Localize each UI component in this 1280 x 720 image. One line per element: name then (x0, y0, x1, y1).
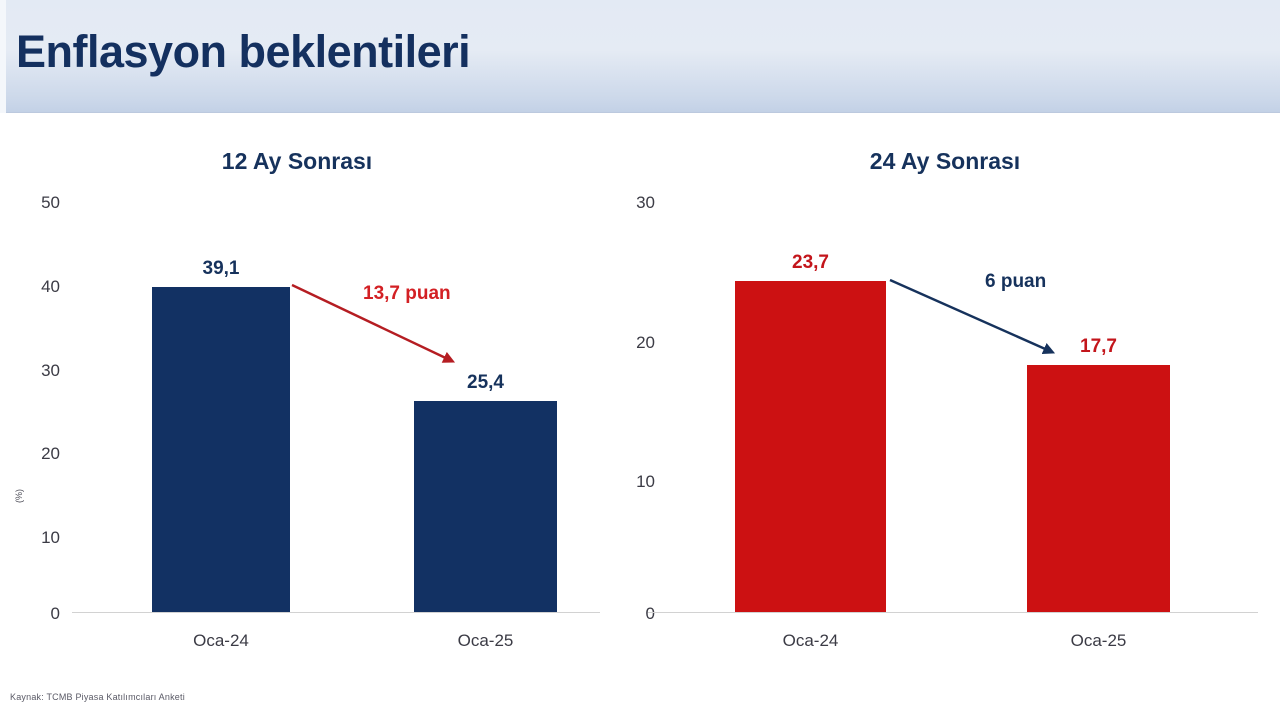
annotation-arrow-right (610, 113, 1280, 683)
annotation-label-right: 6 puan (985, 271, 1046, 293)
y-tick-right-10: 10 (615, 472, 655, 492)
value-label-left-oca-24: 39,1 (152, 258, 290, 280)
x-label-right-oca-24: Oca-24 (735, 631, 886, 651)
y-tick-right-20: 20 (615, 333, 655, 353)
bar-left-oca-24[interactable] (152, 287, 290, 612)
x-label-left-oca-24: Oca-24 (152, 631, 290, 651)
x-label-left-oca-25: Oca-25 (414, 631, 557, 651)
header-band: Enflasyon beklentileri (0, 0, 1280, 113)
bar-right-oca-24[interactable] (735, 281, 886, 612)
bar-right-oca-25[interactable] (1027, 365, 1170, 612)
y-tick-right-0: 0 (615, 604, 655, 624)
y-tick-left-30: 30 (20, 361, 60, 381)
value-label-right-oca-24: 23,7 (735, 252, 886, 274)
x-label-right-oca-25: Oca-25 (1027, 631, 1170, 651)
y-tick-left-10: 10 (20, 528, 60, 548)
x-axis-baseline-left (72, 612, 600, 613)
plot-area-right: 30 20 10 0 23,7 17,7 Oca-24 Oca-25 6 pua… (610, 113, 1280, 683)
y-axis-unit-label-left: (%) (14, 489, 24, 503)
chart-panel-24-months: 24 Ay Sonrası 30 20 10 0 23,7 17,7 Oca-2… (610, 113, 1280, 683)
value-label-right-oca-25: 17,7 (1027, 336, 1170, 358)
page-title: Enflasyon beklentileri (16, 26, 470, 78)
value-label-left-oca-25: 25,4 (414, 372, 557, 394)
y-tick-right-30: 30 (615, 193, 655, 213)
source-note: Kaynak: TCMB Piyasa Katılımcıları Anketi (10, 692, 185, 702)
y-tick-left-50: 50 (20, 193, 60, 213)
bar-left-oca-25[interactable] (414, 401, 557, 612)
y-tick-left-40: 40 (20, 277, 60, 297)
plot-area-left: 50 40 30 20 10 0 (%) 39,1 25,4 Oca-24 Oc… (0, 113, 610, 683)
y-tick-left-20: 20 (20, 444, 60, 464)
y-tick-left-0: 0 (20, 604, 60, 624)
chart-panel-12-months: 12 Ay Sonrası 50 40 30 20 10 0 (%) 39,1 … (0, 113, 610, 683)
header-left-stripe (0, 0, 6, 113)
x-axis-baseline-right (648, 612, 1258, 613)
annotation-label-left: 13,7 puan (363, 283, 451, 305)
